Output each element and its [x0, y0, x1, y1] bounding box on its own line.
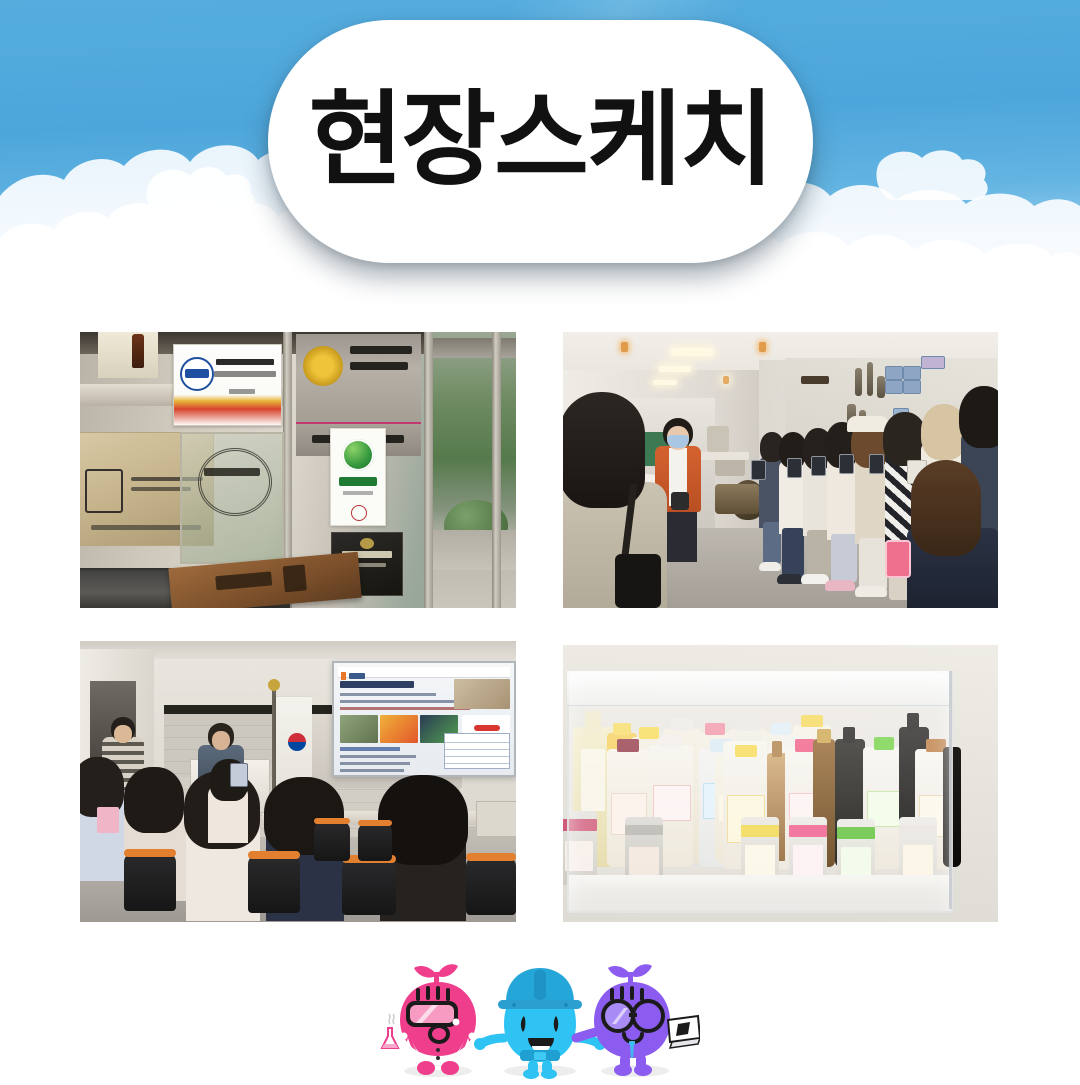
slide-body-line: [340, 762, 410, 765]
photo-gallery-grid: [80, 332, 998, 922]
mascot-foot: [417, 1061, 435, 1075]
visitor-legs: [831, 534, 857, 582]
visitor-shoe: [759, 562, 781, 571]
exhibit-bottle: [877, 376, 885, 398]
hardhat-ridge: [534, 970, 546, 1000]
smartphone-icon: [787, 458, 802, 478]
audience-hair: [124, 767, 184, 833]
pink-scientist-mascot: [382, 964, 488, 1075]
leaf-icon: [414, 966, 436, 978]
taeguk-symbol-icon: [288, 733, 306, 751]
window-mullion: [424, 332, 433, 608]
visitor-shoe: [825, 580, 855, 591]
leaf-icon: [608, 966, 630, 978]
slide-header-label: [349, 673, 365, 679]
photo-entrance-certifications[interactable]: [80, 332, 516, 608]
bottle-shelf: [98, 332, 158, 378]
flask-icon: [382, 1014, 398, 1048]
exhibit-bottle: [867, 362, 873, 396]
purple-analyst-mascot: [576, 964, 700, 1076]
steam: [393, 1014, 394, 1024]
hardhat-brim: [498, 1000, 582, 1009]
laurel-wreath-icon: [198, 448, 272, 516]
chair-headrest: [466, 853, 516, 861]
leaf-icon: [632, 964, 652, 977]
exhibit-bottle: [855, 368, 862, 396]
coat-button: [436, 1056, 440, 1060]
chair-headrest: [358, 820, 392, 826]
glasses-icon: [633, 1001, 663, 1031]
sign-line: [350, 346, 412, 354]
projector-screen: [332, 661, 516, 777]
hair-tuft: [630, 986, 634, 1000]
hair-tuft: [446, 988, 450, 1001]
haccp-certificate-card: [173, 344, 282, 426]
haccp-badge-icon: [180, 357, 214, 391]
green-company-certificate: [330, 428, 386, 526]
photo-museum-tour[interactable]: [563, 332, 998, 608]
laptop-icon: [668, 1016, 700, 1048]
mascot-characters: [380, 958, 700, 1080]
certificate-line: [229, 389, 255, 394]
photo-lecture-room[interactable]: [80, 641, 516, 922]
slide-title-line: [340, 681, 414, 688]
exhibit-label: [885, 366, 903, 380]
smartphone-icon: [885, 540, 911, 578]
mascot-foot: [441, 1061, 459, 1075]
visitor-hair: [959, 386, 998, 448]
visitor-shoe: [855, 586, 887, 597]
chair-headrest: [314, 818, 350, 824]
building-eave: [432, 338, 516, 358]
hair-tuft: [436, 986, 440, 1000]
handout-paper: [97, 807, 119, 833]
smartphone-icon: [811, 456, 826, 476]
certificate-line: [214, 371, 276, 377]
assistant-face: [114, 725, 132, 743]
wood-carving: [283, 564, 307, 592]
steam: [389, 1014, 390, 1024]
window-mullion: [492, 332, 501, 608]
track-light: [723, 376, 729, 384]
sool-seal-icon: [85, 469, 123, 513]
driveway: [432, 530, 516, 570]
photo-content: [563, 645, 998, 922]
chair-headrest: [124, 849, 176, 857]
exhibit-frame: [707, 426, 729, 452]
side-table: [476, 801, 516, 837]
wood-carving: [215, 571, 272, 590]
visitor-legs: [859, 538, 887, 590]
foreground-visitor-braid: [911, 460, 981, 556]
track-light: [621, 342, 628, 352]
visitor-shoe: [777, 574, 803, 584]
mascot-hand: [474, 1038, 486, 1050]
chair: [342, 859, 396, 915]
slide-photo: [454, 679, 510, 709]
sign-line: [350, 362, 408, 370]
slide-diagram-shape: [474, 725, 500, 731]
chair: [466, 857, 516, 915]
guide-belt-pouch: [671, 492, 689, 510]
visitor-legs: [782, 528, 804, 576]
slide-body-line: [340, 769, 404, 772]
slide-data-table: [444, 733, 510, 769]
bucket-hat-icon: [847, 416, 889, 432]
hair-tuft: [620, 986, 624, 1000]
ceiling-light: [659, 366, 691, 372]
tie-knot: [629, 1041, 635, 1045]
handbag-icon: [615, 554, 661, 608]
gc-label: [339, 477, 377, 486]
mascot-arm: [576, 1032, 596, 1038]
exhibit-label: [903, 380, 921, 394]
exhibit-label: [885, 380, 903, 394]
slide-photo: [380, 715, 418, 743]
hair-tuft: [416, 988, 420, 1001]
official-stamp-icon: [351, 505, 367, 521]
chair: [358, 823, 392, 861]
liquor-bottle: [132, 334, 144, 368]
mascot-foot: [614, 1064, 632, 1076]
smartphone-icon: [839, 454, 854, 474]
smartphone-icon: [869, 454, 884, 474]
chair: [314, 821, 350, 861]
leaf-icon: [438, 964, 458, 977]
speaker-face: [212, 731, 230, 750]
slide-subheading: [340, 747, 400, 751]
page-title-pill: 현장스케치: [268, 20, 813, 263]
hat-rivet: [512, 1003, 516, 1007]
mascot-shadow: [504, 1065, 576, 1077]
exhibit-label: [903, 366, 921, 380]
smartphone-icon: [751, 460, 766, 480]
photo-content: [80, 641, 516, 922]
photo-product-display[interactable]: [563, 645, 998, 922]
mascot-row: [380, 958, 700, 1080]
award-text-bar: [204, 468, 260, 476]
wall-plaque: [801, 376, 829, 384]
hair-tuft: [610, 988, 614, 1001]
display-stand: [715, 484, 759, 514]
gc-subtext: [343, 491, 373, 495]
chair: [248, 855, 300, 913]
exhibit-label: [921, 356, 945, 369]
ceiling-light: [653, 380, 677, 385]
acrylic-display-case: [567, 671, 953, 913]
photo-content: [80, 332, 516, 608]
slide-accent-bar: [341, 672, 346, 680]
slide-body-line: [340, 693, 436, 696]
track-light: [759, 342, 766, 352]
blue-engineer-mascot: [474, 968, 606, 1079]
hair-tuft: [640, 988, 644, 1001]
mascot-foot: [634, 1064, 652, 1076]
award-seal-icon: [360, 538, 374, 549]
slide-body-line: [340, 707, 470, 710]
slide-body-line: [340, 755, 416, 758]
smartphone-icon: [230, 763, 248, 787]
flag-finial: [268, 679, 280, 691]
display-table: [693, 452, 749, 460]
page-title: 현장스케치: [309, 88, 773, 191]
ceiling-light: [671, 348, 713, 356]
chair-headrest: [248, 851, 300, 859]
coat-button: [436, 1048, 440, 1052]
cheek-dot: [453, 1019, 460, 1026]
hat-rivet: [564, 1003, 568, 1007]
haccp-designation-sign: [296, 334, 421, 425]
chair: [124, 853, 176, 911]
hair-tuft: [426, 986, 430, 1000]
certificate-line: [216, 359, 274, 365]
slide-header: [338, 667, 510, 678]
mascot-foot: [541, 1069, 557, 1079]
case-top-panel: [567, 671, 949, 706]
mascot-foot: [523, 1069, 539, 1079]
haccp-seal-icon: [303, 346, 343, 386]
gc-logo-icon: [342, 439, 374, 471]
glass-display-case: [180, 432, 284, 564]
slide-photo: [340, 715, 378, 743]
belt-buckle: [534, 1052, 546, 1060]
photo-content: [563, 332, 998, 608]
case-right-edge: [949, 671, 952, 909]
